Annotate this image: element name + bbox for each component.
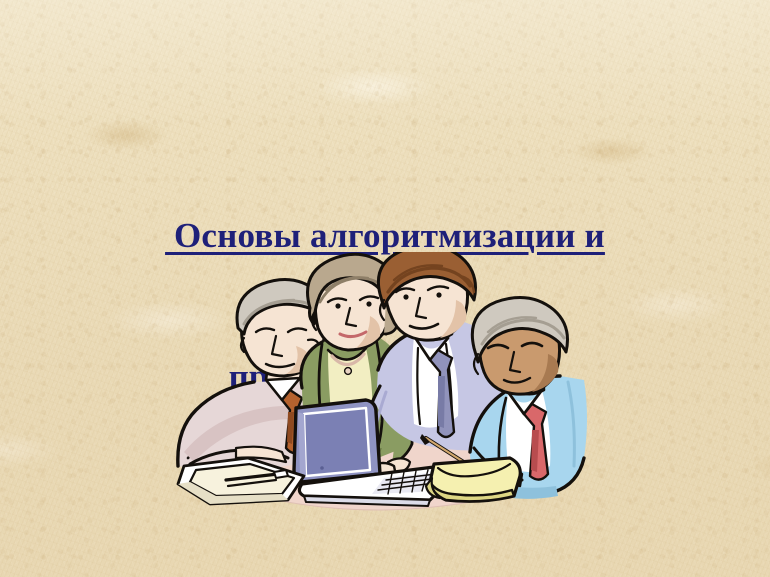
title-line-1-text: Основы алгоритмизации и [165, 216, 605, 255]
team-around-laptop-illustration [170, 252, 590, 524]
slide-canvas: Основы алгоритмизации и программирования [0, 0, 770, 577]
book [426, 458, 520, 501]
